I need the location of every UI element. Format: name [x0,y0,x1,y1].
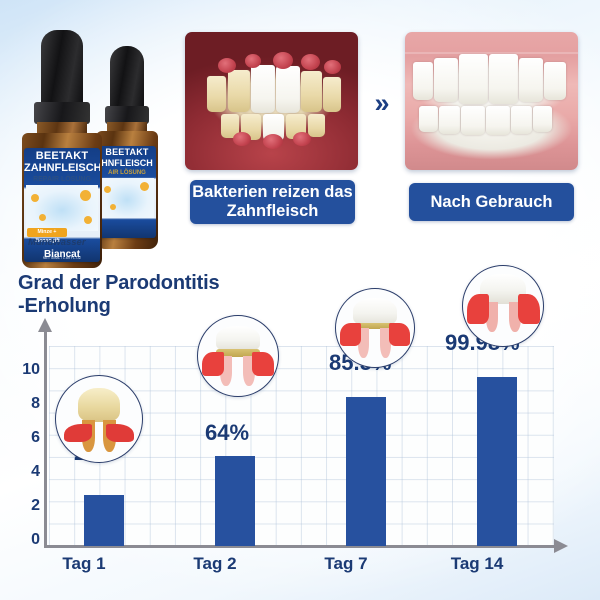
tooth-shape [323,77,341,112]
gum-shape [467,294,489,324]
bottle-subtitle: REPAIR LÖSUNG [24,176,100,183]
promo-infographic: BEETAKT HNFLEISCH AIR LÖSUNG BEETAKT ZAH [0,0,600,600]
product-bottle-primary: BEETAKT ZAHNFLEISCH REPAIR LÖSUNG Minze … [14,30,110,260]
tooth-shape [413,62,433,100]
tooth-shape [489,54,518,104]
inflamed-gum-spot [263,134,283,149]
tooth-shape [308,114,325,137]
tooth-shape [519,58,543,102]
x-tick-label-tag-7: Tag 7 [311,554,381,574]
tooth-crown [353,298,397,326]
x-tick-label-tag-2: Tag 2 [180,554,250,574]
bottle-brand-line2: ZAHNFLEISCH [24,162,100,174]
sparkle-icon [39,214,46,221]
inflamed-gum-spot [273,52,293,69]
bottle-label-primary: BEETAKT ZAHNFLEISCH REPAIR LÖSUNG Minze … [24,148,100,262]
bar-tag-2[interactable] [215,456,255,546]
sparkle-icon [110,204,116,210]
dropper-cap-icon [41,30,83,110]
tooth-shape [544,62,566,100]
chart-title-line2: -Erholung [18,295,298,318]
receding-gum-tooth-icon [197,315,279,397]
tooth-shape [434,58,458,102]
tooth-shape [486,106,510,135]
tooth-shape [461,106,485,135]
gum-shape [340,323,361,346]
y-axis-arrow-icon [38,318,52,332]
y-axis-ticks: 10 8 6 4 2 0 [0,346,40,546]
sparkle-icon [80,190,91,201]
tooth-shape [533,106,552,132]
y-tick-label: 0 [6,531,40,549]
data-label-tag-2: 64% [205,420,249,446]
sparkle-icon [84,216,92,224]
healthy-tooth-icon [462,265,544,347]
product-bottles-group: BEETAKT HNFLEISCH AIR LÖSUNG BEETAKT ZAH [6,12,176,257]
y-tick-label: 4 [6,463,40,481]
tooth-shape [207,76,226,112]
gum-shape [389,323,410,346]
tooth-shape [276,66,300,113]
decayed-tooth-icon [55,375,143,463]
arrow-right-icon: » [363,88,401,118]
bar-tag-1[interactable] [84,495,124,546]
bottle-volume: NET 50ML / 1.69 FL.OZ [24,256,100,260]
inflamed-gum-spot [293,132,311,146]
inflamed-gum-spot [324,60,341,74]
gum-shape [106,424,134,442]
dropper-cap-icon [110,46,144,112]
x-tick-label-tag-14: Tag 14 [442,554,512,574]
top-comparison-section: BEETAKT HNFLEISCH AIR LÖSUNG BEETAKT ZAH [0,0,600,248]
y-tick-label: 6 [6,429,40,447]
before-caption: Bakterien reizen das Zahnfleisch [190,180,355,224]
tooth-crown [78,388,120,422]
tooth-shape [419,106,438,132]
sparkle-icon [31,194,39,202]
gum-shape [252,352,274,376]
tooth-shape [511,106,532,134]
gum-shape [518,294,540,324]
tooth-shape [459,54,488,104]
bar-tag-14[interactable] [477,377,517,547]
chart-title-line1: Grad der Parodontitis [18,272,298,295]
bar-tag-7[interactable] [346,397,386,546]
chart-title: Grad der Parodontitis -Erholung [18,272,298,318]
tooth-shape [301,71,322,112]
gum-shape [64,424,92,442]
x-axis-arrow-icon [554,539,568,553]
tooth-shape [439,106,460,134]
before-photo [185,32,358,170]
improving-gum-tooth-icon [335,288,415,368]
sparkle-icon [140,182,149,191]
after-photo [405,32,578,170]
bottle-product-type: Mundwasser [24,237,100,248]
tooth-shape [228,70,250,112]
bottle-collar [34,102,90,124]
inflamed-gum-spot [233,132,251,146]
after-caption: Nach Gebrauch [409,183,574,221]
y-tick-label: 2 [6,497,40,515]
gum-shape [202,352,224,376]
inflamed-gum-spot [218,58,236,73]
tooth-shape [251,65,275,113]
y-axis-line [44,330,47,548]
x-tick-label-tag-1: Tag 1 [49,554,119,574]
y-tick-label: 8 [6,395,40,413]
gum-line [405,52,578,54]
bottle-brand-line1: BEETAKT [24,151,100,162]
inflamed-gum-spot [245,54,261,68]
inflamed-gum-spot [301,54,320,70]
bottle-feature-pill: Minze + Bienengift [27,228,67,237]
y-tick-label: 10 [6,361,40,379]
